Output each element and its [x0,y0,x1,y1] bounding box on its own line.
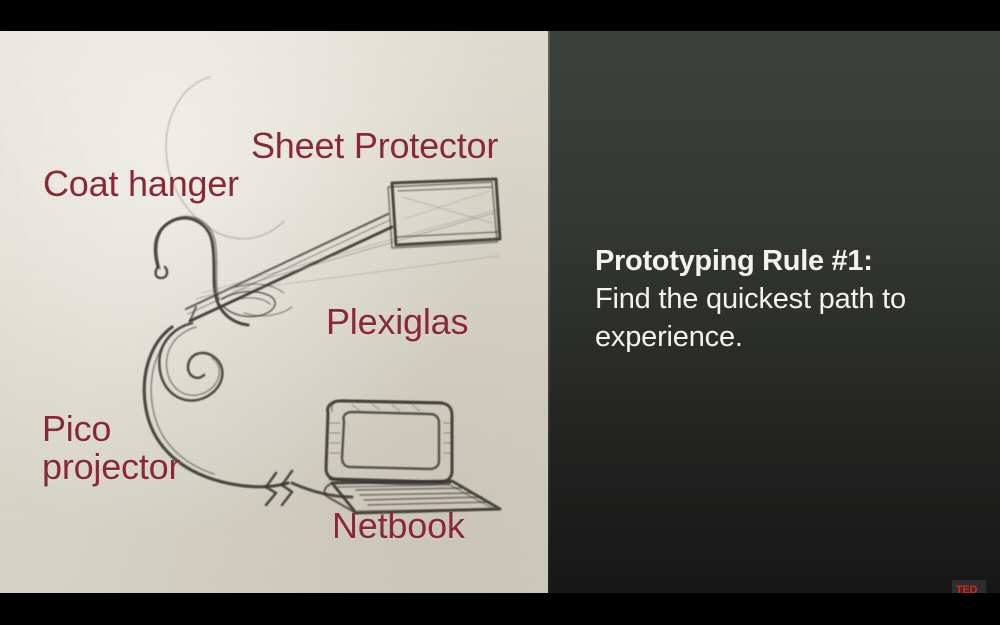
letterbox-bar-top [0,0,1000,31]
ted-logo-text: TED [956,585,977,594]
slide-stage: Coat hanger Sheet Protector Plexiglas Pi… [0,0,1000,625]
coat-hanger-hook-shape [155,216,248,325]
rule-body: Find the quickest path to experience. [595,281,975,356]
sketch-label-plexiglas: Plexiglas [326,303,468,341]
sketch-label-pico-projector: Pico projector [42,410,180,486]
sketch-panel: Coat hanger Sheet Protector Plexiglas Pi… [0,31,548,593]
sketch-label-coat-hanger: Coat hanger [43,165,239,203]
ted-ed-watermark: TED Ed [952,580,986,593]
letterbox-bar-bottom [0,593,1000,625]
slide-content-band: Coat hanger Sheet Protector Plexiglas Pi… [0,31,1000,593]
cable-break-zigzag-shape [266,471,352,505]
panel-divider [548,31,550,593]
rule-heading: Prototyping Rule #1: [595,243,975,280]
text-panel: Prototyping Rule #1: Find the quickest p… [548,31,1000,593]
sketch-label-netbook: Netbook [332,507,465,545]
sketch-label-sheet-protector: Sheet Protector [251,127,498,165]
rule-text-block: Prototyping Rule #1: Find the quickest p… [595,243,975,356]
